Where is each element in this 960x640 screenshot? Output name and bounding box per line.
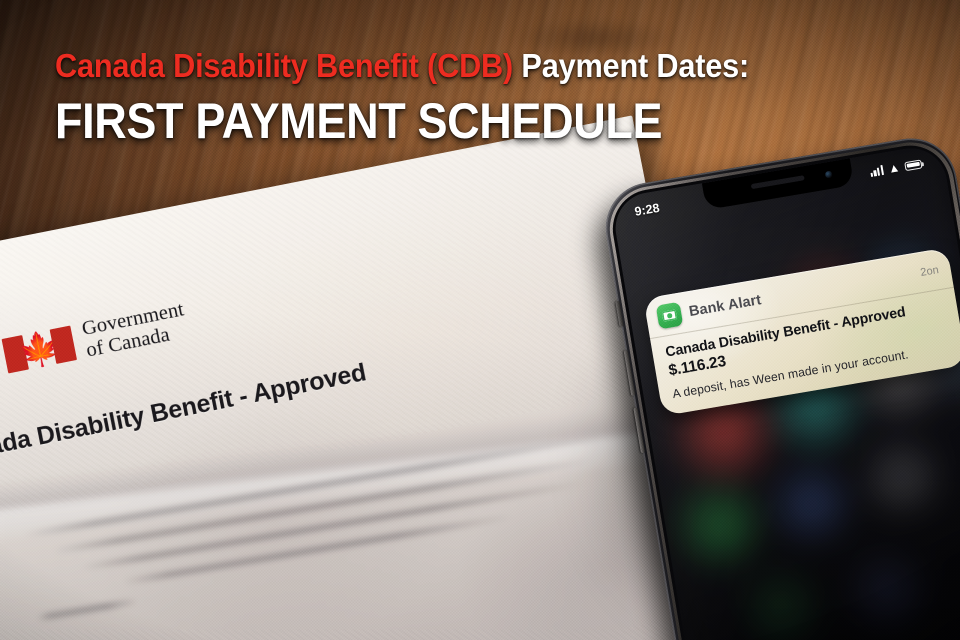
wifi-icon: ▲ xyxy=(887,162,900,174)
battery-full-icon xyxy=(904,159,922,171)
canada-maple-leaf-icon: 🍁 xyxy=(1,325,76,373)
notification-timestamp: 2on xyxy=(920,264,940,279)
headline-subtitle: Payment Dates: xyxy=(513,47,749,84)
promo-graphic-canvas: 🍁 Government of Canada Canada Disability… xyxy=(0,0,960,640)
body-line xyxy=(37,598,139,620)
headline-line-1: Canada Disability Benefit (CDB) Payment … xyxy=(55,46,855,86)
cellular-signal-icon xyxy=(869,165,884,177)
banknote-glyph xyxy=(662,309,677,321)
headline-highlight: Canada Disability Benefit (CDB) xyxy=(55,47,513,84)
headline-block: Canada Disability Benefit (CDB) Payment … xyxy=(55,46,915,150)
status-bar-indicators: ▲ xyxy=(869,158,922,177)
status-bar-clock: 9:28 xyxy=(634,201,661,219)
bank-app-icon xyxy=(656,302,684,330)
headline-line-2: FIRST PAYMENT SCHEDULE xyxy=(55,92,829,150)
